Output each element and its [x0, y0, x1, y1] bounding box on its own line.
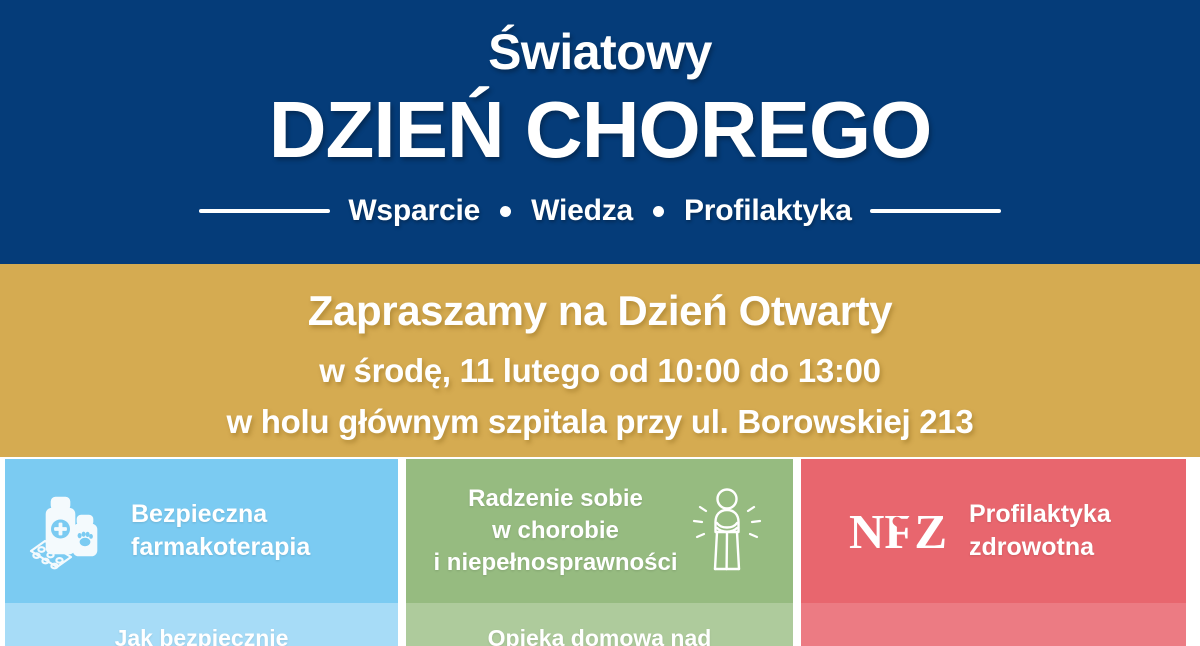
standing-person-icon [688, 485, 766, 577]
card-header-pharma: Bezpieczna farmakoterapia [5, 459, 398, 603]
card-body-text-pharma: Jak bezpiecznie [5, 624, 398, 646]
medicine-bottles-icon [27, 487, 115, 575]
card-title-coping-line1: Radzenie sobie [468, 485, 643, 512]
card-title-nfz-line1: Profilaktyka [969, 500, 1111, 528]
card-title-pharma-line1: Bezpieczna [131, 500, 267, 528]
invitation-heading: Zapraszamy na Dzień Otwarty [308, 286, 892, 336]
card-title-coping-line3: i niepełnosprawności [433, 549, 677, 576]
page-title-small: Światowy [488, 26, 712, 79]
tagline-word-1: Wsparcie [348, 194, 480, 228]
card-title-coping-line2: w chorobie [492, 517, 619, 544]
card-title-coping: Radzenie sobie w chorobie i niepełnospra… [433, 483, 677, 578]
invitation-location: w holu głównym szpitala przy ul. Borowsk… [227, 401, 974, 442]
card-header-nfz: NFZ Profilaktyka zdrowotna [801, 459, 1186, 603]
page-title-main: DZIEŃ CHOREGO [269, 85, 932, 175]
card-title-nfz-line2: zdrowotna [969, 533, 1094, 561]
card-title-nfz: Profilaktyka zdrowotna [969, 498, 1111, 564]
tagline-row: Wsparcie Wiedza Profilaktyka [0, 194, 1200, 228]
card-body-pharma: Jak bezpiecznie [5, 603, 398, 646]
tagline-words: Wsparcie Wiedza Profilaktyka [348, 194, 851, 228]
heart-icon [896, 514, 915, 532]
card-body-text-coping: Opieka domowa nad [406, 624, 793, 646]
card-header-coping: Radzenie sobie w chorobie i niepełnospra… [406, 459, 793, 603]
bullet-dot-icon [653, 206, 664, 217]
tagline-rule-right [870, 209, 1001, 213]
card-profilaktyka-zdrowotna[interactable]: NFZ Profilaktyka zdrowotna [801, 459, 1186, 646]
tagline-word-2: Wiedza [531, 194, 633, 228]
tagline-word-3: Profilaktyka [684, 194, 852, 228]
invitation-datetime: w środę, 11 lutego od 10:00 do 13:00 [319, 350, 880, 391]
poster-root: Światowy DZIEŃ CHOREGO Wsparcie Wiedza P… [0, 0, 1200, 646]
nfz-logo-icon: NFZ [849, 507, 947, 556]
bullet-dot-icon [500, 206, 511, 217]
card-title-pharma-line2: farmakoterapia [131, 533, 310, 561]
card-body-nfz [801, 603, 1186, 646]
card-body-coping: Opieka domowa nad [406, 603, 793, 646]
invitation-banner: Zapraszamy na Dzień Otwarty w środę, 11 … [0, 264, 1200, 457]
tagline-rule-left [199, 209, 330, 213]
header-banner: Światowy DZIEŃ CHOREGO Wsparcie Wiedza P… [0, 0, 1200, 264]
topic-cards: Bezpieczna farmakoterapia Jak bezpieczni… [0, 459, 1200, 646]
card-bezpieczna-farmakoterapia[interactable]: Bezpieczna farmakoterapia Jak bezpieczni… [5, 459, 398, 646]
card-radzenie-sobie[interactable]: Radzenie sobie w chorobie i niepełnospra… [406, 459, 793, 646]
card-title-pharma: Bezpieczna farmakoterapia [131, 498, 310, 564]
